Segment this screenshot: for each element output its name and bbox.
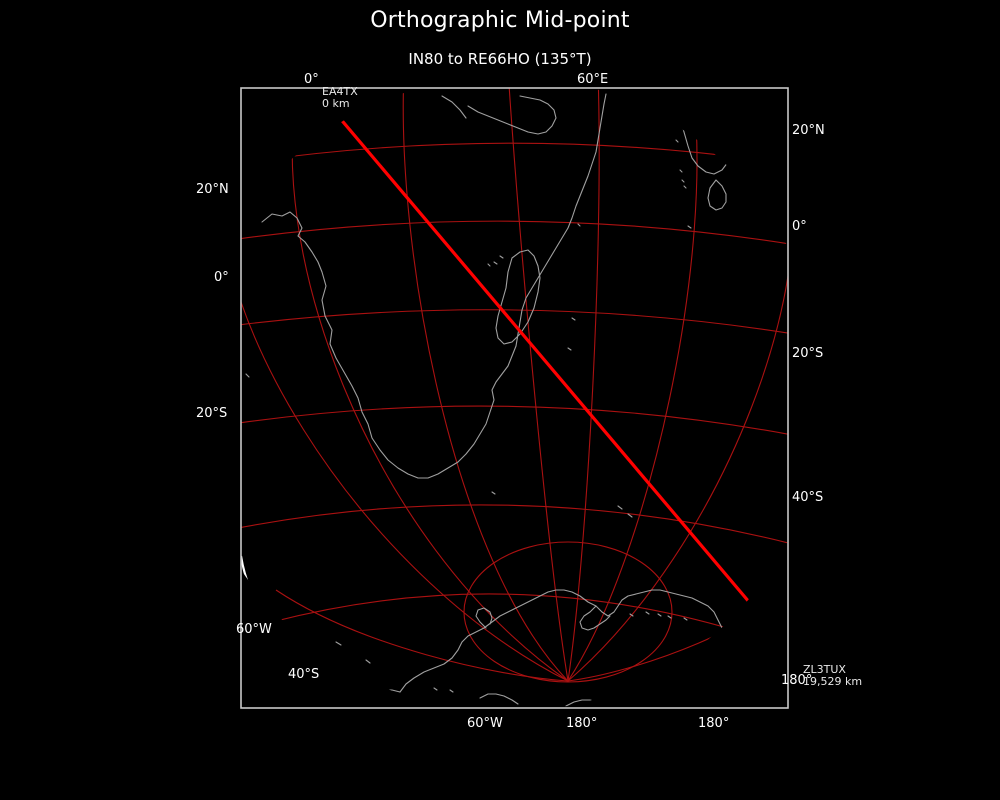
axis-label-left-4: 40°S xyxy=(288,667,319,682)
axis-label-top-1: 60°E xyxy=(577,72,608,87)
map-figure: Orthographic Mid-point IN80 to RE66HO (1… xyxy=(0,0,1000,800)
map-background xyxy=(241,88,788,708)
axis-label-top-0: 0° xyxy=(304,72,319,87)
axis-label-left-1: 0° xyxy=(214,270,229,285)
axis-label-right-3: 40°S xyxy=(792,490,823,505)
axis-label-bottom-2: 180° xyxy=(698,716,729,731)
axis-label-bottom-1: 180° xyxy=(566,716,597,731)
axis-label-left-3: 60°W xyxy=(236,622,272,637)
axis-label-left-2: 20°S xyxy=(196,406,227,421)
axis-label-right-1: 0° xyxy=(792,219,807,234)
endpoint-end-distance: 19,529 km xyxy=(803,675,862,688)
axis-label-left-0: 20°N xyxy=(196,182,229,197)
axis-label-bottom-0: 60°W xyxy=(467,716,503,731)
endpoint-start-distance: 0 km xyxy=(322,97,350,110)
axis-label-right-2: 20°S xyxy=(792,346,823,361)
axis-label-right-0: 20°N xyxy=(792,123,825,138)
